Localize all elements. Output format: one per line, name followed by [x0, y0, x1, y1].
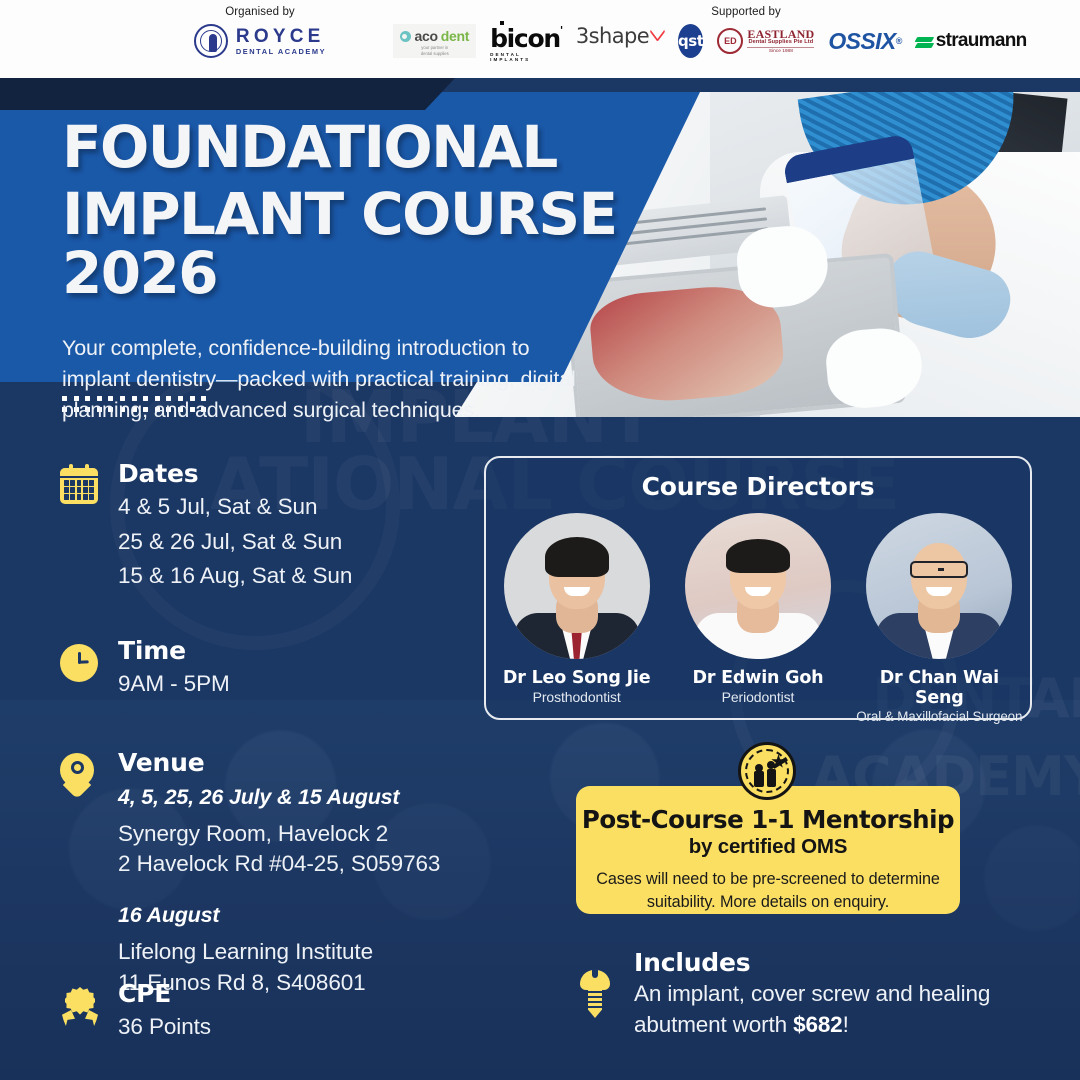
director-role-2: Periodontist [674, 689, 842, 705]
straumann-name: straumann [936, 30, 1027, 52]
bicon-name: bicon' [490, 24, 562, 53]
cpe-value: 36 Points [118, 1011, 440, 1044]
time-block: Time 9AM - 5PM [60, 637, 480, 701]
3shape-logo: 3shape [576, 24, 664, 58]
director-card: Dr Chan Wai Seng Oral & Maxillofacial Su… [855, 513, 1023, 724]
director-name-1: Dr Leo Song Jie [493, 668, 661, 688]
hero-title-line2: IMPLANT COURSE 2026 [62, 185, 682, 303]
mentorship-star-icon [738, 742, 796, 800]
supporters-group: Supported by acoacodentdent your partner… [415, 6, 1005, 58]
director-avatar-1 [504, 513, 650, 659]
event-info-column: Dates 4 & 5 Jul, Sat & Sun 25 & 26 Jul, … [60, 460, 480, 998]
page-title: FOUNDATIONAL IMPLANT COURSE 2026 [62, 118, 682, 303]
royce-name: ROYCE [236, 27, 326, 46]
acodent-logo: acoacodentdent your partner indental sup… [393, 24, 476, 58]
dates-block: Dates 4 & 5 Jul, Sat & Sun 25 & 26 Jul, … [60, 460, 480, 593]
eastland-logo: ED EASTLAND Dental Supplies Pte Ltd Sinc… [717, 24, 814, 58]
date-line-1: 4 & 5 Jul, Sat & Sun [118, 491, 480, 524]
award-badge-icon [60, 986, 100, 1026]
location-pin-icon [60, 753, 100, 793]
venue-1-name: Synergy Room, Havelock 2 [118, 820, 480, 849]
dental-implant-icon [578, 970, 618, 1010]
time-heading: Time [118, 637, 480, 666]
organiser-group: Organised by ROYCE DENTAL ACADEMY [150, 6, 370, 58]
dates-heading: Dates [118, 460, 480, 489]
course-directors-card: Course Directors Dr Leo Song Jie Prostho… [484, 456, 1032, 720]
clock-icon [60, 641, 100, 681]
organised-by-label: Organised by [150, 6, 370, 18]
ossix-logo: OSSIX® [828, 24, 901, 58]
director-name-2: Dr Edwin Goh [674, 668, 842, 688]
hero-subtitle: Your complete, confidence-building intro… [62, 333, 602, 425]
director-card: Dr Edwin Goh Periodontist [674, 513, 842, 724]
venue-heading: Venue [118, 749, 480, 778]
time-value: 9AM - 5PM [118, 668, 480, 701]
includes-amount: $682 [793, 1012, 842, 1037]
organiser-logos: ROYCE DENTAL ACADEMY [150, 24, 370, 58]
eyeglasses-icon [910, 561, 968, 578]
mentorship-subtitle: by certified OMS [576, 835, 960, 859]
director-avatar-3 [866, 513, 1012, 659]
venue-1-address: 2 Havelock Rd #04-25, S059763 [118, 850, 480, 879]
mentorship-callout: Post-Course 1-1 Mentorship by certified … [576, 786, 960, 914]
includes-text: An implant, cover screw and healing abut… [634, 979, 1038, 1040]
cpe-block: CPE 36 Points [60, 980, 440, 1044]
venue-2-dates: 16 August [118, 903, 480, 928]
hero-title-line1: FOUNDATIONAL [62, 113, 557, 181]
acodent-tagline: your partner indental supplies [421, 45, 449, 56]
bicon-subtitle: DENTAL IMPLANTS [490, 52, 562, 62]
includes-block: Includes An implant, cover screw and hea… [578, 948, 1038, 1040]
straumann-mark-icon [916, 33, 933, 50]
acodent-mark-icon [400, 31, 411, 42]
ossix-registered-mark: ® [896, 36, 902, 46]
director-role-1: Prosthodontist [493, 689, 661, 705]
royce-seal-icon [194, 24, 228, 58]
eastland-seal-icon: ED [717, 28, 743, 54]
qst-logo: qst [678, 24, 703, 58]
includes-heading: Includes [634, 948, 1038, 977]
course-directors-title: Course Directors [486, 472, 1030, 501]
venue-block: Venue 4, 5, 25, 26 July & 15 August Syne… [60, 749, 480, 998]
course-directors-row: Dr Leo Song Jie Prosthodontist Dr Edwin … [486, 513, 1030, 724]
mentorship-title: Post-Course 1-1 Mentorship [576, 805, 960, 834]
supported-by-label: Supported by [487, 6, 1005, 18]
ossix-name: OSSIX [828, 28, 895, 55]
director-avatar-2 [685, 513, 831, 659]
venue-1-dates: 4, 5, 25, 26 July & 15 August [118, 785, 480, 810]
supporter-logos: acoacodentdent your partner indental sup… [415, 24, 1005, 58]
royce-subtitle: DENTAL ACADEMY [236, 48, 326, 55]
director-card: Dr Leo Song Jie Prosthodontist [493, 513, 661, 724]
includes-text-after: ! [843, 1012, 849, 1037]
date-line-2: 25 & 26 Jul, Sat & Sun [118, 526, 480, 559]
director-role-3: Oral & Maxillofacial Surgeon [855, 709, 1023, 724]
3shape-name: 3shape [576, 24, 649, 48]
date-line-3: 15 & 16 Aug, Sat & Sun [118, 560, 480, 593]
hero-text: FOUNDATIONAL IMPLANT COURSE 2026 Your co… [62, 118, 682, 425]
cpe-heading: CPE [118, 980, 440, 1009]
eastland-subtitle: Dental Supplies Pte Ltd [747, 40, 814, 46]
royce-dental-academy-logo: ROYCE DENTAL ACADEMY [194, 24, 326, 58]
straumann-logo: straumann [916, 24, 1027, 58]
calendar-icon [60, 464, 100, 504]
3shape-triangle-icon [650, 21, 666, 42]
mentorship-body: Cases will need to be pre-screened to de… [576, 868, 960, 914]
bicon-logo: bicon' DENTAL IMPLANTS [490, 24, 562, 58]
director-name-3: Dr Chan Wai Seng [855, 668, 1023, 708]
venue-2-name: Lifelong Learning Institute [118, 938, 480, 967]
eastland-since: Since 1988 [747, 47, 814, 54]
sponsor-bar: Organised by ROYCE DENTAL ACADEMY Suppor… [0, 0, 1080, 78]
